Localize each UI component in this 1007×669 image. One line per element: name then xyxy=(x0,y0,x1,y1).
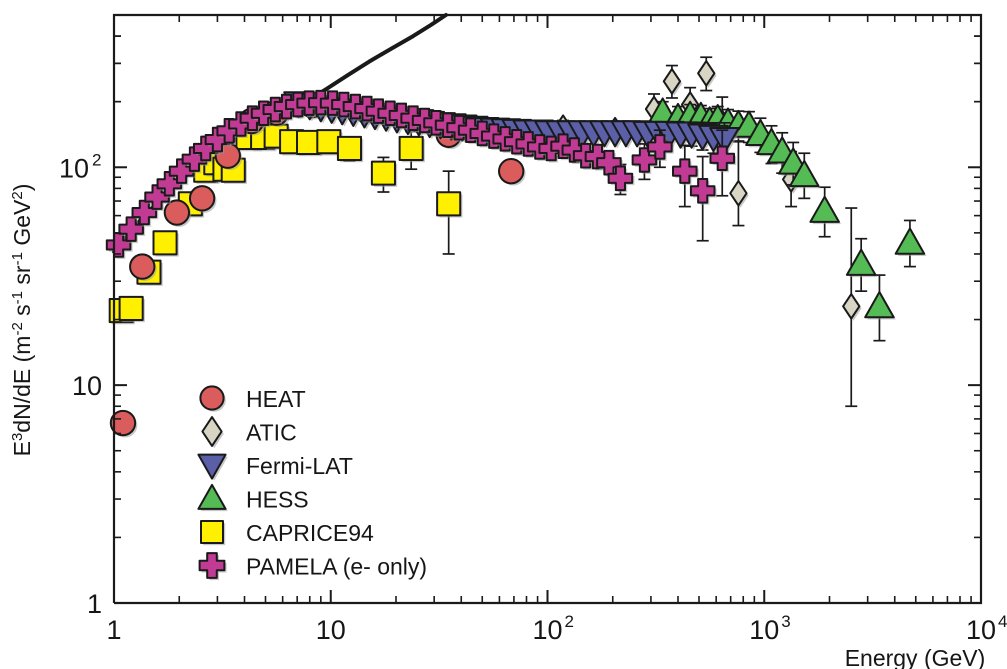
figure-container: 110102103104 110102 Energy (GeV)E3dN/dE … xyxy=(0,0,1007,669)
datapoint-2 xyxy=(165,200,189,224)
x-tick-label-exp-3: 3 xyxy=(781,612,790,631)
x-axis-title: Energy (GeV) xyxy=(845,645,986,669)
x-tick-label-0: 1 xyxy=(106,615,121,645)
legend-marker-0 xyxy=(200,386,223,409)
legend-label-5: PAMELA (e- only) xyxy=(246,554,427,580)
datapoint-3 xyxy=(154,231,177,254)
x-tick-label-exp-2: 2 xyxy=(565,612,574,631)
legend-label-2: Fermi-LAT xyxy=(246,453,353,479)
electron-positron-spectrum-plot: 110102103104 110102 Energy (GeV)E3dN/dE … xyxy=(0,0,1007,669)
x-tick-label-3: 10 xyxy=(749,615,779,645)
legend-label-4: CAPRICE94 xyxy=(246,520,374,546)
legend-marker-4 xyxy=(201,521,223,543)
datapoint-17 xyxy=(400,137,423,160)
legend-item-hess[interactable]: HESS xyxy=(198,485,308,513)
x-tick-label-4: 10 xyxy=(966,615,996,645)
plot-background xyxy=(0,0,1007,669)
legend-label-1: ATIC xyxy=(246,420,297,446)
legend-item-heat[interactable]: HEAT xyxy=(200,386,305,412)
y-axis-title-text: E3dN/dE (m-2 s-1 sr-1 GeV2) xyxy=(9,184,36,457)
datapoint-3 xyxy=(190,186,214,210)
datapoint-15 xyxy=(338,137,361,160)
y-tick-label-1: 10 xyxy=(72,371,102,401)
y-tick-label-2: 10 xyxy=(59,153,89,183)
x-tick-label-1: 10 xyxy=(316,615,346,645)
y-tick-label-exp-2: 2 xyxy=(92,150,101,169)
datapoint-1 xyxy=(120,297,143,320)
datapoint-1 xyxy=(130,254,154,278)
legend-label-0: HEAT xyxy=(246,386,306,412)
datapoint-18 xyxy=(437,192,460,215)
datapoint-16 xyxy=(372,162,395,185)
datapoint-10 xyxy=(499,159,523,183)
y-tick-label-0: 1 xyxy=(87,589,102,619)
legend-label-3: HESS xyxy=(246,487,309,513)
x-tick-label-2: 10 xyxy=(532,615,562,645)
y-axis-title: E3dN/dE (m-2 s-1 sr-1 GeV2) xyxy=(9,184,36,457)
x-tick-label-exp-4: 4 xyxy=(998,612,1007,631)
